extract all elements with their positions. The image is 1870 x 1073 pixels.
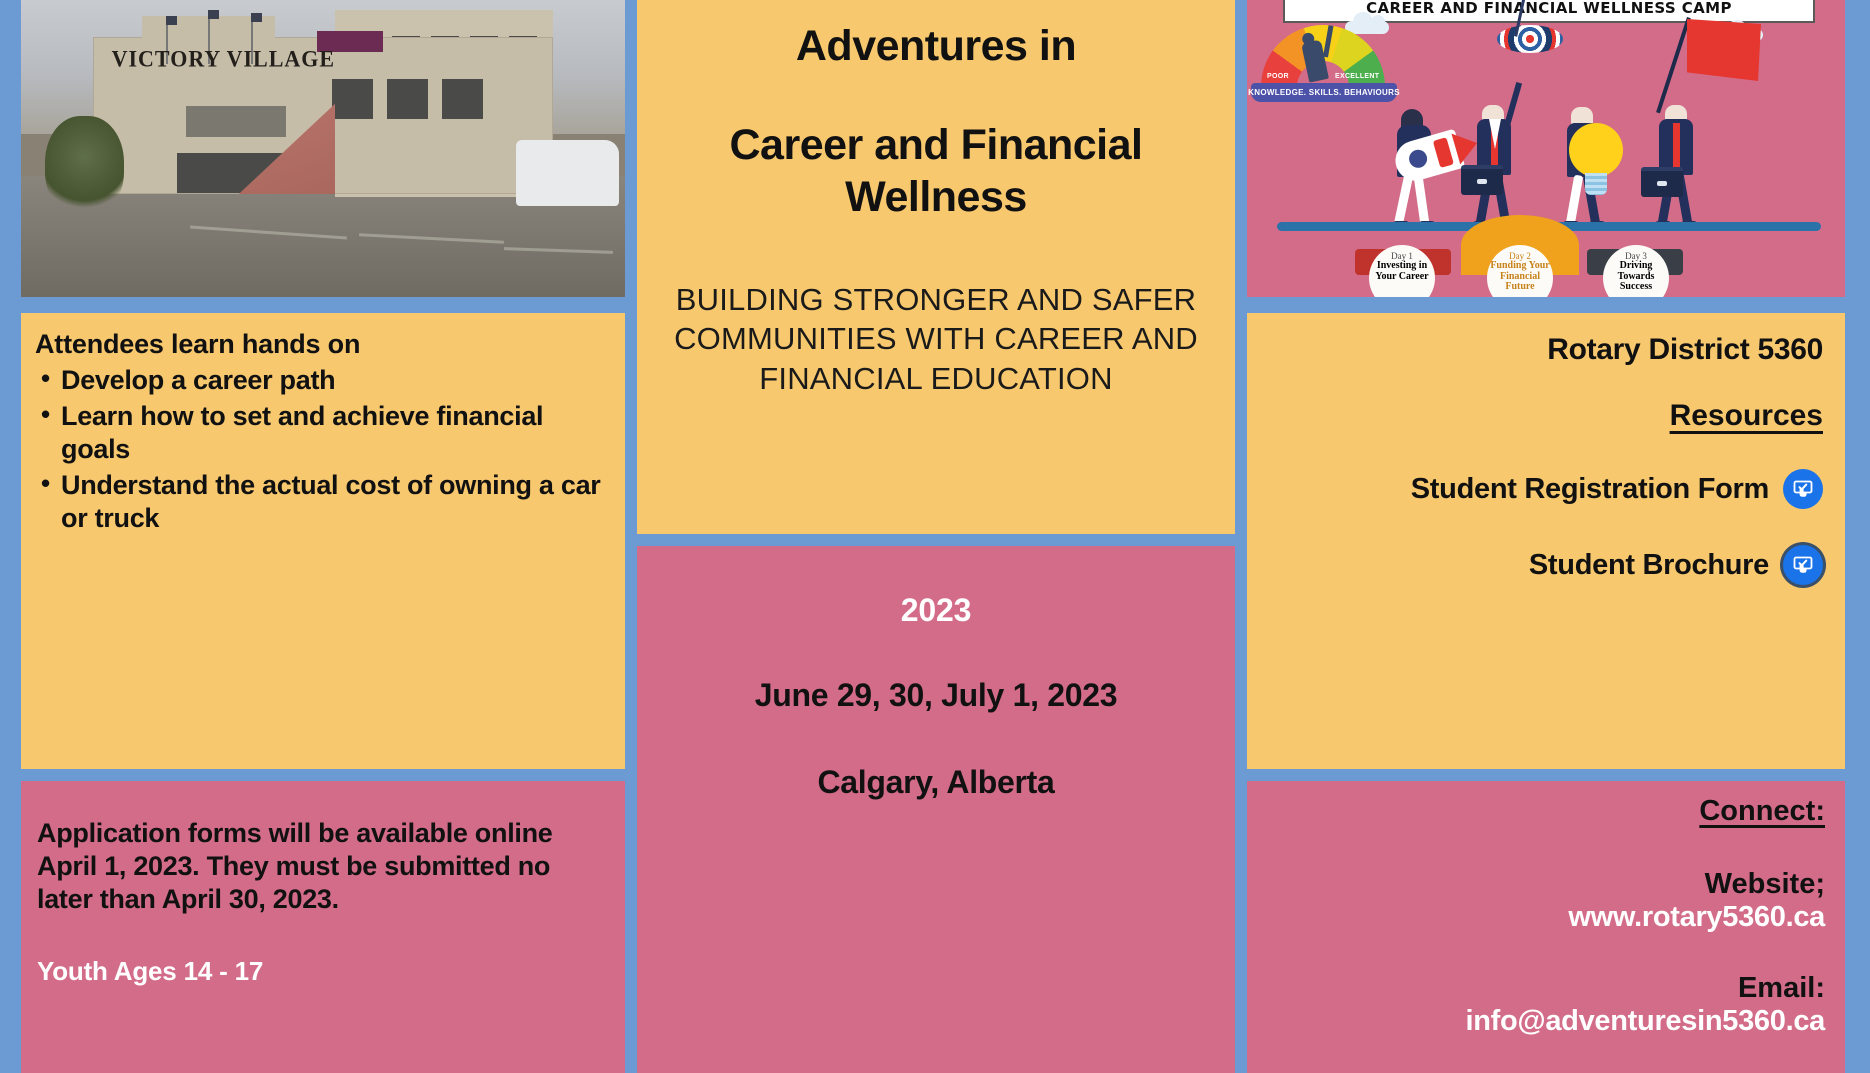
camp-illustration: CAREER AND FINANCIAL WELLNESS CAMP POOR … bbox=[1244, 0, 1848, 300]
resource-row-brochure[interactable]: Student Brochure bbox=[1247, 545, 1823, 585]
attendees-bullet-list: Develop a career path Learn how to set a… bbox=[35, 364, 607, 534]
day-title: Investing in Your Career bbox=[1369, 261, 1435, 282]
youth-ages-text: Youth Ages 14 - 17 bbox=[37, 956, 605, 987]
flag-pole-icon bbox=[1656, 17, 1691, 113]
resources-panel: Rotary District 5360 Resources Student R… bbox=[1244, 310, 1848, 772]
poster-root: VICTORY VILLAGE Attendees learn hands on… bbox=[0, 0, 1870, 1073]
gauge-high-label: EXCELLENT bbox=[1335, 73, 1379, 80]
white-truck bbox=[516, 140, 619, 206]
lightbulb-icon bbox=[1569, 123, 1623, 177]
day-title: Driving Towards Success bbox=[1603, 261, 1669, 293]
form-link-icon[interactable] bbox=[1783, 469, 1823, 509]
victory-village-sign: VICTORY VILLAGE bbox=[112, 46, 335, 73]
list-item: Understand the actual cost of owning a c… bbox=[35, 469, 607, 534]
briefcase-icon bbox=[1461, 165, 1503, 195]
red-flag-icon bbox=[1687, 19, 1761, 81]
district-title: Rotary District 5360 bbox=[1247, 333, 1823, 367]
tree bbox=[45, 116, 124, 219]
attendees-learn-panel: Attendees learn hands on Develop a caree… bbox=[18, 310, 628, 772]
list-item: Learn how to set and achieve financial g… bbox=[35, 400, 607, 465]
gauge-pill: KNOWLEDGE. SKILLS. BEHAVIOURS bbox=[1251, 83, 1397, 102]
day-title: Funding Your Financial Future bbox=[1487, 261, 1553, 293]
event-city: Calgary, Alberta bbox=[657, 764, 1215, 801]
title-panel: Adventures in Career and Financial Welln… bbox=[634, 0, 1238, 537]
application-info-panel: Application forms will be available onli… bbox=[18, 778, 628, 1073]
email-value[interactable]: info@adventuresin5360.ca bbox=[1247, 1005, 1825, 1038]
event-dates: June 29, 30, July 1, 2023 bbox=[657, 677, 1215, 714]
form-link-icon[interactable] bbox=[1783, 545, 1823, 585]
resource-row-registration[interactable]: Student Registration Form bbox=[1247, 469, 1823, 509]
attendees-heading: Attendees learn hands on bbox=[35, 329, 607, 360]
connect-panel: Connect: Website; www.rotary5360.ca Emai… bbox=[1244, 778, 1848, 1073]
gauge-low-label: POOR bbox=[1267, 73, 1289, 80]
target-icon bbox=[1497, 25, 1563, 53]
event-year: 2023 bbox=[657, 592, 1215, 629]
briefcase-icon bbox=[1641, 167, 1683, 197]
email-label: Email: bbox=[1247, 972, 1825, 1005]
venue-photo: VICTORY VILLAGE bbox=[18, 0, 628, 300]
resource-label: Student Brochure bbox=[1529, 549, 1769, 582]
application-paragraph: Application forms will be available onli… bbox=[37, 817, 605, 916]
event-dates-panel: 2023 June 29, 30, July 1, 2023 Calgary, … bbox=[634, 543, 1238, 1073]
lightbulb-base-icon bbox=[1585, 173, 1607, 195]
connect-heading: Connect: bbox=[1247, 795, 1825, 828]
resources-heading: Resources bbox=[1247, 399, 1823, 433]
page-title-line1: Adventures in bbox=[657, 21, 1215, 73]
list-item: Develop a career path bbox=[35, 364, 607, 396]
illustration-banner-text: CAREER AND FINANCIAL WELLNESS CAMP bbox=[1366, 0, 1732, 17]
website-value[interactable]: www.rotary5360.ca bbox=[1247, 901, 1825, 934]
page-title-line2: Career and Financial Wellness bbox=[657, 119, 1215, 224]
gauge-pill-label: KNOWLEDGE. SKILLS. BEHAVIOURS bbox=[1248, 88, 1400, 97]
website-label: Website; bbox=[1247, 868, 1825, 901]
page-subtitle: BUILDING STRONGER AND SAFER COMMUNITIES … bbox=[657, 280, 1215, 399]
resource-label: Student Registration Form bbox=[1411, 473, 1769, 506]
